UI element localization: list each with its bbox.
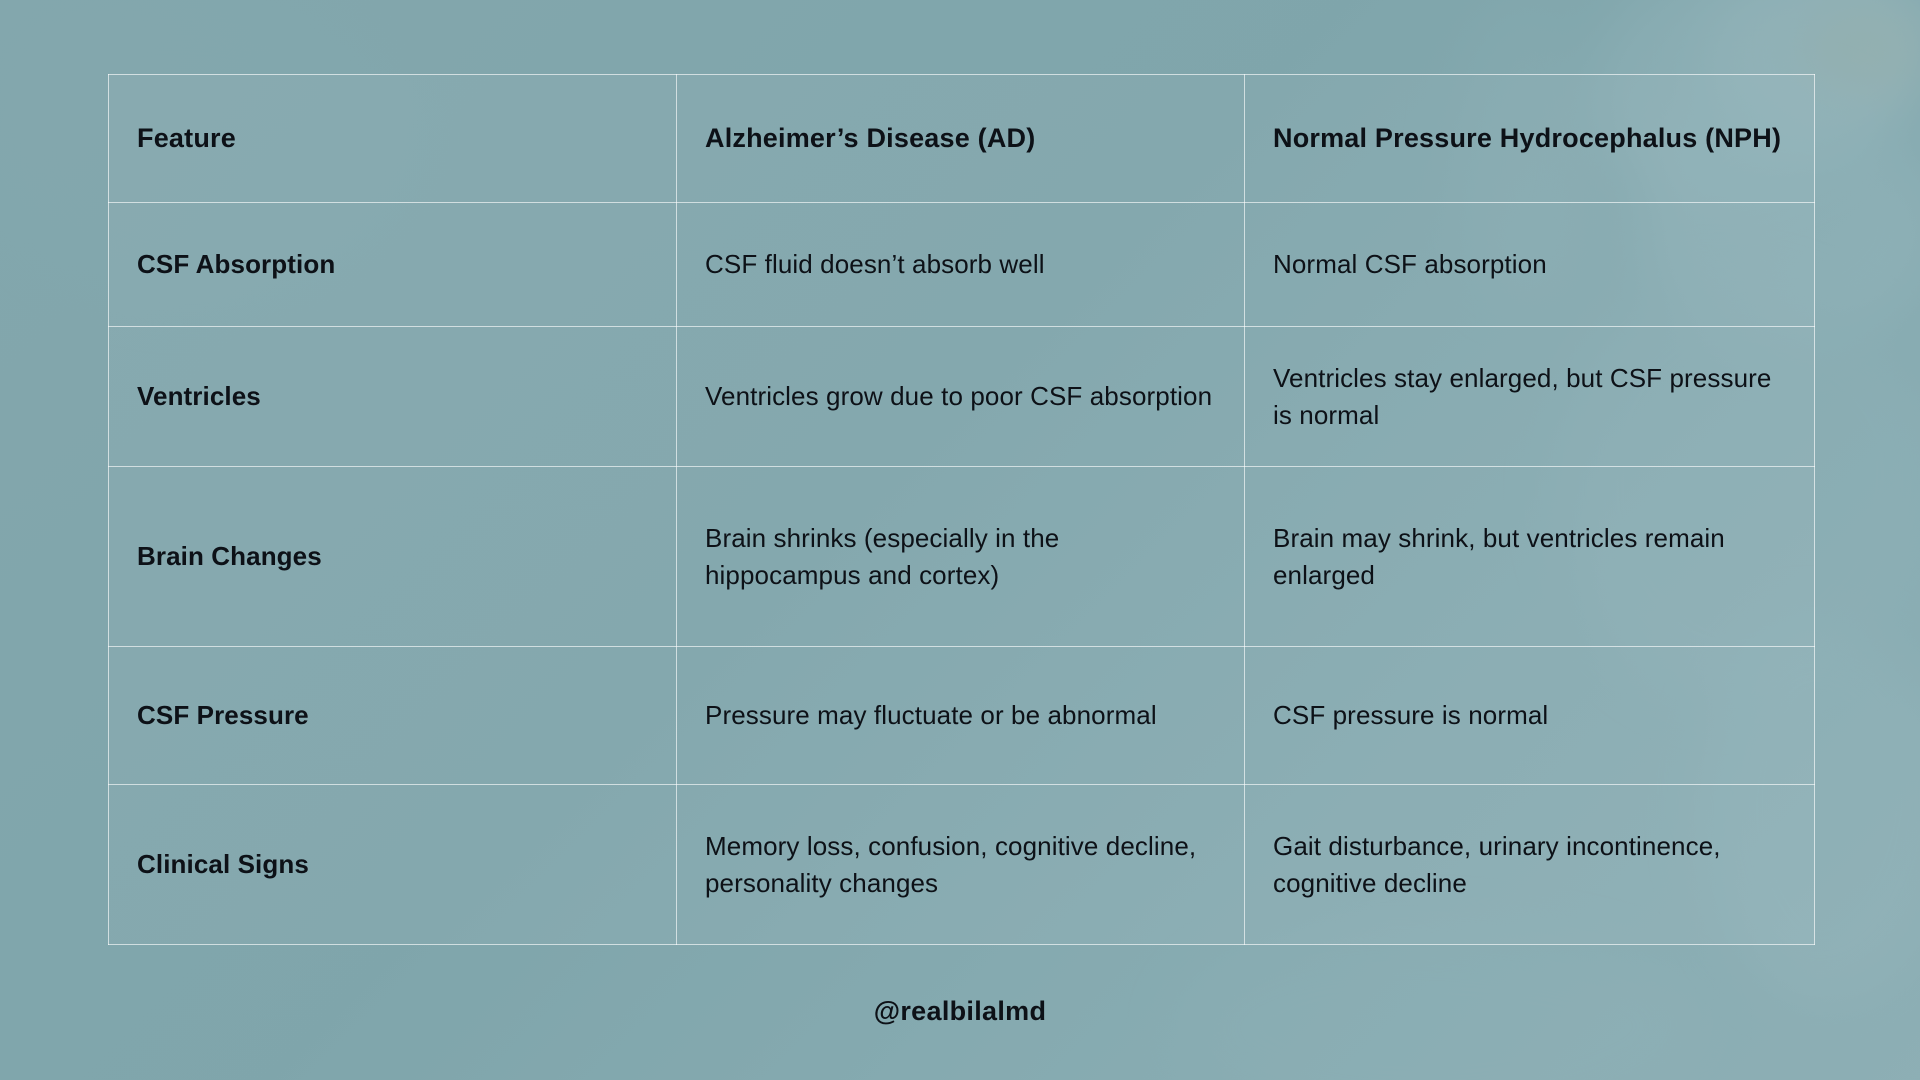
row-label-ventricles: Ventricles — [109, 327, 677, 467]
table-header-row: Feature Alzheimer’s Disease (AD) Normal … — [109, 75, 1815, 203]
cell-nph-clinical-signs: Gait disturbance, urinary incontinence, … — [1245, 785, 1815, 945]
column-header-feature: Feature — [109, 75, 677, 203]
cell-ad-clinical-signs: Memory loss, confusion, cognitive declin… — [677, 785, 1245, 945]
row-label-brain-changes: Brain Changes — [109, 467, 677, 647]
cell-ad-brain-changes: Brain shrinks (especially in the hippoca… — [677, 467, 1245, 647]
table-row: CSF Absorption CSF fluid doesn’t absorb … — [109, 203, 1815, 327]
cell-nph-ventricles: Ventricles stay enlarged, but CSF pressu… — [1245, 327, 1815, 467]
row-label-clinical-signs: Clinical Signs — [109, 785, 677, 945]
cell-nph-csf-pressure: CSF pressure is normal — [1245, 647, 1815, 785]
table-row: CSF Pressure Pressure may fluctuate or b… — [109, 647, 1815, 785]
cell-nph-brain-changes: Brain may shrink, but ventricles remain … — [1245, 467, 1815, 647]
cell-ad-csf-absorption: CSF fluid doesn’t absorb well — [677, 203, 1245, 327]
cell-ad-ventricles: Ventricles grow due to poor CSF absorpti… — [677, 327, 1245, 467]
author-handle: @realbilalmd — [0, 996, 1920, 1027]
row-label-csf-pressure: CSF Pressure — [109, 647, 677, 785]
row-label-csf-absorption: CSF Absorption — [109, 203, 677, 327]
table-row: Ventricles Ventricles grow due to poor C… — [109, 327, 1815, 467]
table-row: Brain Changes Brain shrinks (especially … — [109, 467, 1815, 647]
comparison-table: Feature Alzheimer’s Disease (AD) Normal … — [108, 74, 1815, 945]
cell-nph-csf-absorption: Normal CSF absorption — [1245, 203, 1815, 327]
slide-canvas: Feature Alzheimer’s Disease (AD) Normal … — [0, 0, 1920, 1080]
comparison-table-container: Feature Alzheimer’s Disease (AD) Normal … — [108, 74, 1814, 945]
cell-ad-csf-pressure: Pressure may fluctuate or be abnormal — [677, 647, 1245, 785]
table-row: Clinical Signs Memory loss, confusion, c… — [109, 785, 1815, 945]
column-header-alzheimers: Alzheimer’s Disease (AD) — [677, 75, 1245, 203]
column-header-nph: Normal Pressure Hydrocephalus (NPH) — [1245, 75, 1815, 203]
